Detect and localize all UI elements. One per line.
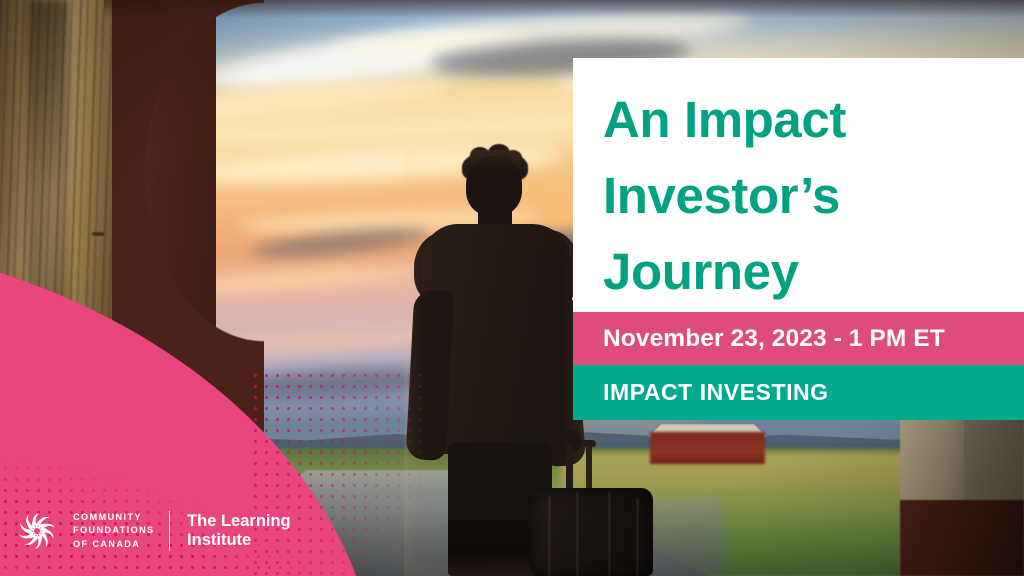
org-name-line-1: COMMUNITY <box>73 511 155 525</box>
event-category-bar: IMPACT INVESTING <box>573 365 1024 420</box>
logo-lockup: COMMUNITY FOUNDATIONS OF CANADA The Lear… <box>14 508 291 554</box>
suitcase-rib <box>608 492 611 576</box>
community-foundations-sun-icon <box>14 508 60 554</box>
sub-brand-line-2: Institute <box>187 531 291 550</box>
event-date-text: November 23, 2023 - 1 PM ET <box>573 325 945 353</box>
page-title: An Impact Investor’s Journey <box>603 82 1000 310</box>
sub-brand-block: The Learning Institute <box>187 512 291 550</box>
org-name-line-2: FOUNDATIONS <box>73 524 155 538</box>
suitcase-rib <box>576 492 579 576</box>
head <box>466 156 522 216</box>
event-category-text: IMPACT INVESTING <box>573 379 829 406</box>
org-name-block: COMMUNITY FOUNDATIONS OF CANADA <box>73 511 155 552</box>
event-date-bar: November 23, 2023 - 1 PM ET <box>573 312 1024 365</box>
suitcase-rib <box>548 496 551 576</box>
title-line-3: Journey <box>603 234 1000 310</box>
sub-brand-line-1: The Learning <box>187 512 291 531</box>
org-name-line-3: OF CANADA <box>73 538 155 552</box>
event-promo-poster: COMMUNITY FOUNDATIONS OF CANADA The Lear… <box>0 0 1024 576</box>
title-line-2: Investor’s <box>603 158 1000 234</box>
distant-red-barn <box>650 432 765 464</box>
doorway-top-shadow <box>104 0 1024 18</box>
logo-divider <box>169 511 171 551</box>
title-card: An Impact Investor’s Journey <box>573 58 1024 312</box>
suitcase-rib <box>636 498 639 576</box>
post-red-base <box>900 500 1024 576</box>
title-line-1: An Impact <box>603 82 1000 158</box>
